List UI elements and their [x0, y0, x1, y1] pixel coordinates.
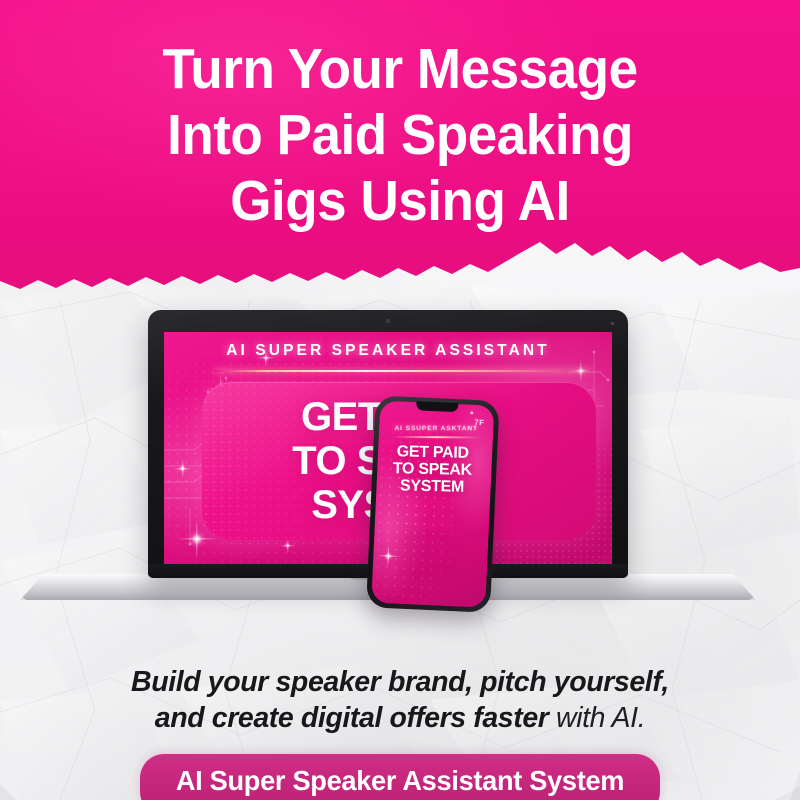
phone-line-3: SYSTEM: [377, 477, 487, 496]
tagline: Build your speaker brand, pitch yourself…: [0, 664, 800, 736]
apple-logo-icon: ●: [470, 410, 475, 417]
tagline-line-1: Build your speaker brand, pitch yourself…: [0, 664, 800, 700]
bottom-banner-pill: AI Super Speaker Assistant System: [140, 754, 660, 800]
phone-notch: [416, 401, 458, 412]
phone-line-2: TO SPEAK: [377, 460, 487, 479]
headline-line-2: Into Paid Speaking: [28, 102, 772, 168]
tagline-line-2: and create digital offers faster with AI…: [0, 700, 800, 736]
page-title: Turn Your Message Into Paid Speaking Gig…: [28, 36, 772, 234]
device-mockup-group: AI SUPER SPEAKER ASSISTANT GET PAID TO S…: [0, 290, 800, 630]
tagline-line-2-light: with AI.: [549, 702, 646, 734]
laptop-sensor-icon: [611, 322, 614, 325]
phone-ghost-shape: [399, 530, 461, 585]
promotional-poster: Turn Your Message Into Paid Speaking Gig…: [0, 0, 800, 800]
laptop-webcam-icon: [386, 319, 390, 323]
phone-screen: ● 7F AI SSUPER ASKTANT GET PAID TO SPEAK…: [371, 401, 494, 608]
headline-line-3: Gigs Using AI: [28, 168, 772, 234]
phone-mockup: ● 7F AI SSUPER ASKTANT GET PAID TO SPEAK…: [366, 395, 499, 612]
screen-kicker-text: AI SUPER SPEAKER ASSISTANT: [164, 342, 612, 360]
screen-divider-line: [214, 370, 592, 372]
phone-kicker-text: AI SSUPER ASKTANT: [379, 425, 493, 432]
headline-line-1: Turn Your Message: [28, 36, 772, 102]
phone-headline: GET PAID TO SPEAK SYSTEM: [377, 443, 488, 496]
bottom-banner-label: AI Super Speaker Assistant System: [148, 765, 652, 797]
tagline-line-2-bold: and create digital offers faster: [155, 702, 549, 734]
